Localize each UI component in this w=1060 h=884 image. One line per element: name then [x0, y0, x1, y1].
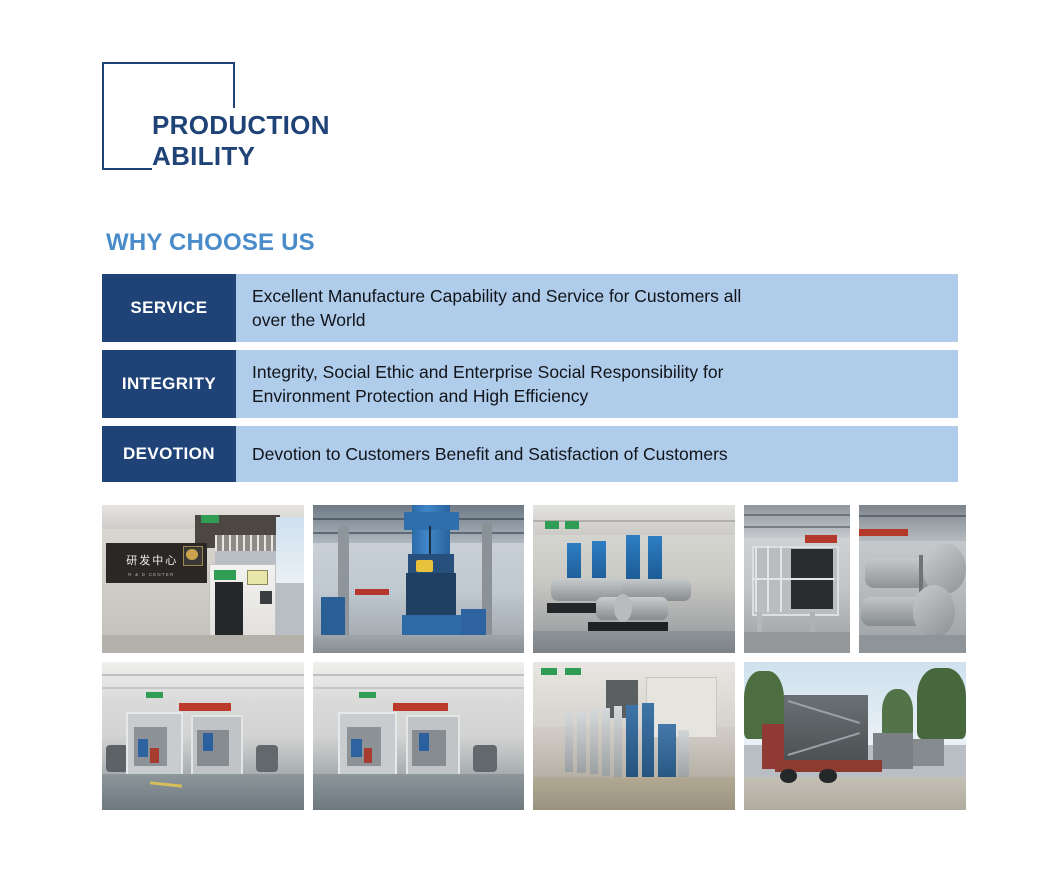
exit-sign-icon [146, 692, 162, 698]
feature-description-integrity: Integrity, Social Ethic and Enterprise S… [236, 350, 958, 418]
exit-sign-icon [565, 521, 579, 528]
stainless-tanks-photo [859, 505, 966, 653]
feature-row: DEVOTION Devotion to Customers Benefit a… [102, 426, 958, 482]
truck-loading-photo [744, 662, 966, 810]
section-heading: WHY CHOOSE US [106, 229, 315, 257]
feature-label-service: SERVICE [102, 274, 236, 342]
frame-bottom-line [102, 168, 152, 170]
feature-desc-line-2: over the World [252, 308, 741, 332]
exit-sign-icon [545, 521, 559, 528]
assembly-shop-photo-2 [313, 662, 524, 810]
feature-label-integrity: INTEGRITY [102, 350, 236, 418]
assembly-shop-photo-1 [102, 662, 304, 810]
frame-module-photo [744, 505, 850, 653]
gallery-row-bottom [102, 662, 958, 810]
gallery-row-top: 研发中心 R & D CENTER [102, 505, 958, 653]
rd-center-photo: 研发中心 R & D CENTER [102, 505, 304, 653]
factory-photo-gallery: 研发中心 R & D CENTER [102, 505, 958, 810]
heat-exchanger-plates-photo [533, 662, 735, 810]
feature-description-service: Excellent Manufacture Capability and Ser… [236, 274, 958, 342]
feature-row: INTEGRITY Integrity, Social Ethic and En… [102, 350, 958, 418]
production-ability-title-block: PRODUCTION ABILITY [102, 62, 342, 170]
feature-label-devotion: DEVOTION [102, 426, 236, 482]
rd-center-sign-cn: 研发中心 [126, 552, 178, 568]
page-title: PRODUCTION ABILITY [152, 110, 330, 172]
feature-desc-line-1: Excellent Manufacture Capability and Ser… [252, 284, 741, 308]
hydraulic-press-photo [313, 505, 524, 653]
feature-description-devotion: Devotion to Customers Benefit and Satisf… [236, 426, 958, 482]
frame-left-line [102, 62, 104, 170]
frame-right-line [233, 62, 235, 108]
exit-sign-icon [359, 692, 376, 698]
exit-sign-icon [565, 668, 581, 675]
feature-desc-line-1: Devotion to Customers Benefit and Satisf… [252, 442, 728, 466]
feature-desc-line-1: Integrity, Social Ethic and Enterprise S… [252, 360, 723, 384]
exit-sign-icon [201, 515, 219, 522]
frame-top-line [102, 62, 235, 64]
feature-row: SERVICE Excellent Manufacture Capability… [102, 274, 958, 342]
rd-center-sign-en: R & D CENTER [128, 572, 174, 577]
pressure-vessel-line-photo [533, 505, 735, 653]
feature-desc-line-2: Environment Protection and High Efficien… [252, 384, 723, 408]
page-title-line-2: ABILITY [152, 141, 330, 172]
why-choose-us-list: SERVICE Excellent Manufacture Capability… [102, 274, 958, 490]
page-title-line-1: PRODUCTION [152, 110, 330, 141]
exit-sign-icon [541, 668, 557, 675]
